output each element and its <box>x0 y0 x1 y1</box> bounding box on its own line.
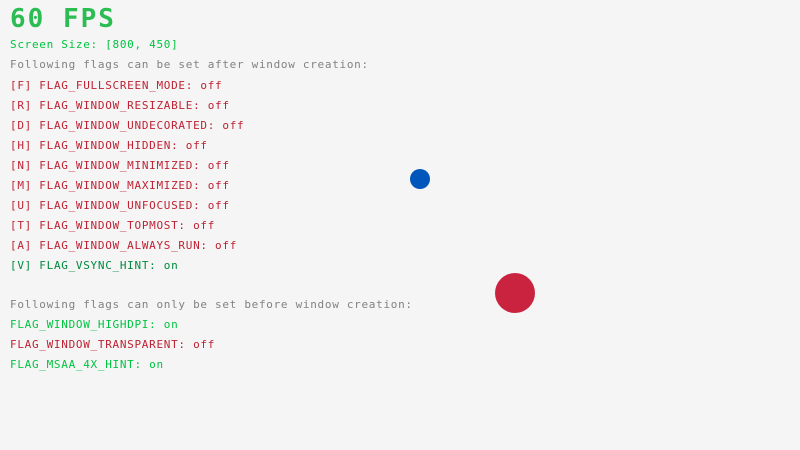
flag-key: [T] <box>10 219 39 232</box>
flag-key: [N] <box>10 159 39 172</box>
flag-row-flag-window-minimized[interactable]: [N] FLAG_WINDOW_MINIMIZED: off <box>10 160 230 172</box>
flag-key: [V] <box>10 259 39 272</box>
flag-row-flag-window-transparent[interactable]: FLAG_WINDOW_TRANSPARENT: off <box>10 339 215 351</box>
flag-key: [M] <box>10 179 39 192</box>
flag-row-flag-window-hidden[interactable]: [H] FLAG_WINDOW_HIDDEN: off <box>10 140 208 152</box>
flag-key: [R] <box>10 99 39 112</box>
flag-state-value: off <box>208 199 230 212</box>
flag-key: [H] <box>10 139 39 152</box>
flag-row-flag-fullscreen-mode[interactable]: [F] FLAG_FULLSCREEN_MODE: off <box>10 80 222 92</box>
flag-name: FLAG_WINDOW_MAXIMIZED: <box>39 179 207 192</box>
flag-row-flag-window-resizable[interactable]: [R] FLAG_WINDOW_RESIZABLE: off <box>10 100 230 112</box>
flag-row-flag-vsync-hint[interactable]: [V] FLAG_VSYNC_HINT: on <box>10 260 178 272</box>
flag-name: FLAG_WINDOW_UNFOCUSED: <box>39 199 207 212</box>
flag-row-flag-window-undecorated[interactable]: [D] FLAG_WINDOW_UNDECORATED: off <box>10 120 244 132</box>
flag-state-value: on <box>164 259 179 272</box>
runtime-flags-header: Following flags can be set after window … <box>10 59 369 71</box>
flag-row-flag-window-unfocused[interactable]: [U] FLAG_WINDOW_UNFOCUSED: off <box>10 200 230 212</box>
flag-name: FLAG_FULLSCREEN_MODE: <box>39 79 200 92</box>
flag-row-flag-window-always-run[interactable]: [A] FLAG_WINDOW_ALWAYS_RUN: off <box>10 240 237 252</box>
screen-size-label: Screen Size: [800, 450] <box>10 39 178 51</box>
flag-state-value: off <box>186 139 208 152</box>
flag-name: FLAG_VSYNC_HINT: <box>39 259 163 272</box>
flag-state-value: off <box>208 179 230 192</box>
fps-counter: 60 FPS <box>10 6 116 32</box>
flag-state-value: on <box>149 358 164 371</box>
flag-name: FLAG_WINDOW_UNDECORATED: <box>39 119 222 132</box>
flag-name: FLAG_WINDOW_RESIZABLE: <box>39 99 207 112</box>
flag-row-flag-window-maximized[interactable]: [M] FLAG_WINDOW_MAXIMIZED: off <box>10 180 230 192</box>
flag-state-value: off <box>200 79 222 92</box>
flag-state-value: off <box>215 239 237 252</box>
flag-name: FLAG_MSAA_4X_HINT: <box>10 358 149 371</box>
flag-state-value: off <box>193 338 215 351</box>
flag-row-flag-msaa-4x-hint[interactable]: FLAG_MSAA_4X_HINT: on <box>10 359 164 371</box>
flag-key: [F] <box>10 79 39 92</box>
flag-key: [D] <box>10 119 39 132</box>
flag-row-flag-window-topmost[interactable]: [T] FLAG_WINDOW_TOPMOST: off <box>10 220 215 232</box>
flag-name: FLAG_WINDOW_TRANSPARENT: <box>10 338 193 351</box>
flag-key: [A] <box>10 239 39 252</box>
flag-state-value: on <box>164 318 179 331</box>
flag-state-value: off <box>208 159 230 172</box>
red-circle <box>495 273 535 313</box>
flag-name: FLAG_WINDOW_MINIMIZED: <box>39 159 207 172</box>
raylib-window-canvas: 60 FPS Screen Size: [800, 450] Following… <box>0 0 800 450</box>
flag-state-value: off <box>193 219 215 232</box>
flag-name: FLAG_WINDOW_TOPMOST: <box>39 219 193 232</box>
flag-name: FLAG_WINDOW_ALWAYS_RUN: <box>39 239 215 252</box>
creation-flags-header: Following flags can only be set before w… <box>10 299 413 311</box>
flag-name: FLAG_WINDOW_HIDDEN: <box>39 139 185 152</box>
blue-circle <box>410 169 430 189</box>
flag-row-flag-window-highdpi[interactable]: FLAG_WINDOW_HIGHDPI: on <box>10 319 178 331</box>
flag-state-value: off <box>222 119 244 132</box>
flag-name: FLAG_WINDOW_HIGHDPI: <box>10 318 164 331</box>
flag-key: [U] <box>10 199 39 212</box>
flag-state-value: off <box>208 99 230 112</box>
